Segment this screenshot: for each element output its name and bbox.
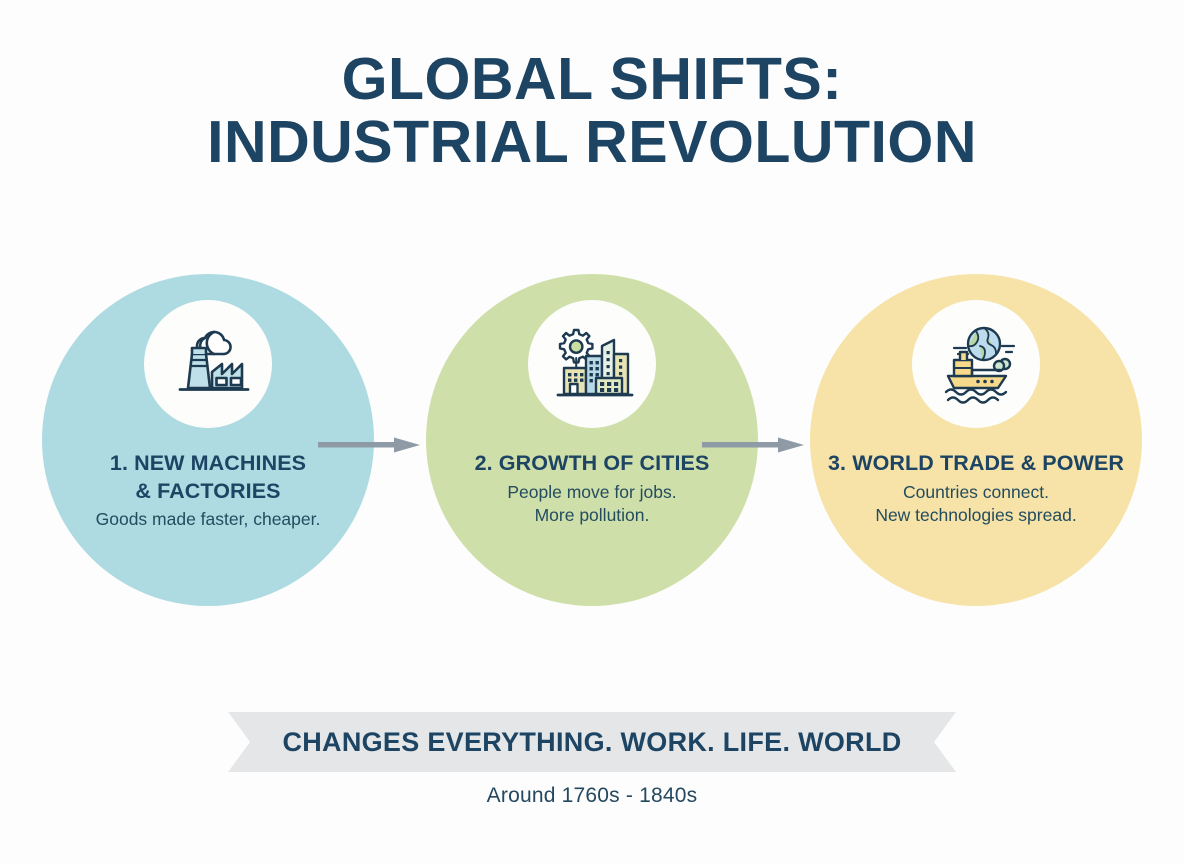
summary-ribbon: CHANGES EVERYTHING. WORK. LIFE. WORLD	[228, 712, 956, 772]
step-body-1: Goods made faster, cheaper.	[48, 508, 368, 532]
step-text-1: 1. NEW MACHINES & FACTORIES Goods made f…	[42, 450, 374, 532]
step-body-2: People move for jobs. More pollution.	[432, 481, 752, 529]
page-title: GLOBAL SHIFTS: INDUSTRIAL REVOLUTION	[0, 48, 1184, 173]
step-heading-1: 1. NEW MACHINES & FACTORIES	[48, 450, 368, 505]
arrow-step1-to-step2	[318, 435, 422, 455]
step-text-3: 3. WORLD TRADE & POWER Countries connect…	[810, 450, 1142, 528]
step-text-2: 2. GROWTH OF CITIES People move for jobs…	[426, 450, 758, 528]
step-body-3: Countries connect. New technologies spre…	[816, 481, 1136, 529]
title-line-2: INDUSTRIAL REVOLUTION	[0, 111, 1184, 174]
arrow-step2-to-step3	[702, 435, 806, 455]
steps-row: 1. NEW MACHINES & FACTORIES Goods made f…	[0, 274, 1184, 606]
cargo-ship-globe-icon	[912, 300, 1040, 428]
ribbon-text: CHANGES EVERYTHING. WORK. LIFE. WORLD	[228, 712, 956, 772]
step-heading-3: 3. WORLD TRADE & POWER	[816, 450, 1136, 478]
title-line-1: GLOBAL SHIFTS:	[0, 48, 1184, 111]
factory-icon	[144, 300, 272, 428]
city-skyline-icon	[528, 300, 656, 428]
step-card-3: 3. WORLD TRADE & POWER Countries connect…	[810, 274, 1142, 606]
date-caption: Around 1760s - 1840s	[0, 784, 1184, 808]
infographic-canvas: GLOBAL SHIFTS: INDUSTRIAL REVOLUTION	[0, 0, 1184, 864]
